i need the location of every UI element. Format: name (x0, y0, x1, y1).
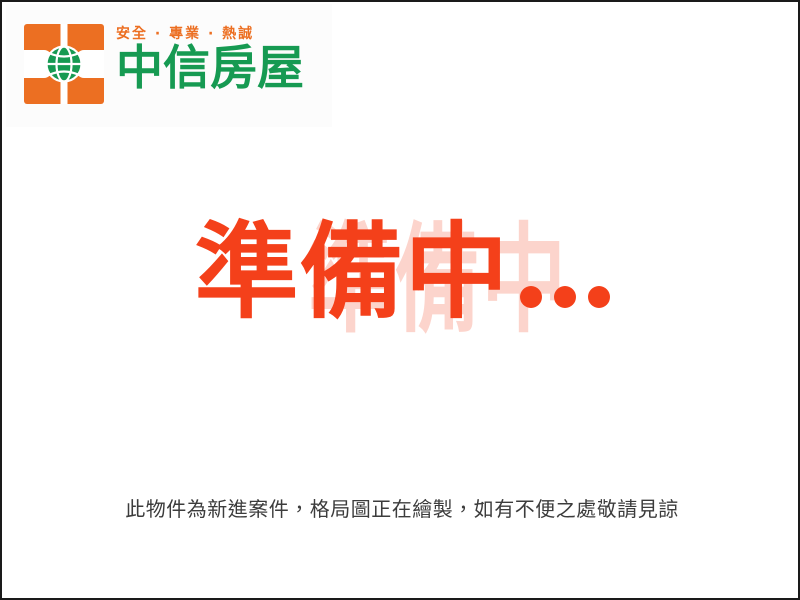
headline-ellipsis (520, 207, 610, 337)
brand-name: 中信房屋 (116, 45, 304, 93)
brand-logo[interactable]: 安全 · 專業 · 熱誠 中信房屋 (24, 24, 304, 104)
brand-tagline: 安全 · 專業 · 熱誠 (116, 27, 304, 41)
ellipsis-dot (554, 286, 576, 308)
ellipsis-dot (520, 286, 542, 308)
ellipsis-dot (588, 286, 610, 308)
footer-note: 此物件為新進案件，格局圖正在繪製，如有不便之處敬請見諒 (2, 495, 800, 523)
placeholder-page: 安全 · 專業 · 熱誠 中信房屋 準備中 準備中 此物件為新進案件，格局圖正在… (0, 0, 800, 600)
chinatrust-globe-logo-icon (24, 24, 104, 104)
brand-text: 安全 · 專業 · 熱誠 中信房屋 (116, 24, 304, 93)
headline-zone: 準備中 準備中 (2, 207, 800, 347)
headline-text: 準備中 (194, 211, 509, 333)
headline: 準備中 (2, 207, 800, 337)
brand-panel: 安全 · 專業 · 熱誠 中信房屋 (6, 4, 332, 127)
